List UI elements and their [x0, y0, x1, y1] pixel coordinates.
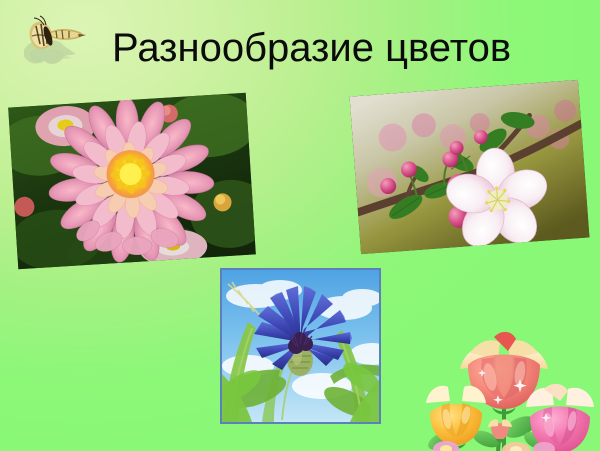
- presentation-slide: Разнообразие цветов: [0, 0, 600, 451]
- butterfly-decoration: [8, 8, 92, 74]
- chrysanthemum-photo[interactable]: [8, 93, 256, 270]
- cornflower-image: [222, 270, 379, 422]
- butterfly-icon: [24, 14, 86, 58]
- chrysanthemum-image: [8, 93, 256, 270]
- apple-blossom-image: [350, 80, 590, 254]
- apple-blossom-photo[interactable]: [350, 80, 590, 254]
- cornflower-photo[interactable]: [220, 268, 381, 424]
- rose-decoration: [424, 329, 600, 451]
- slide-title: Разнообразие цветов: [112, 26, 511, 70]
